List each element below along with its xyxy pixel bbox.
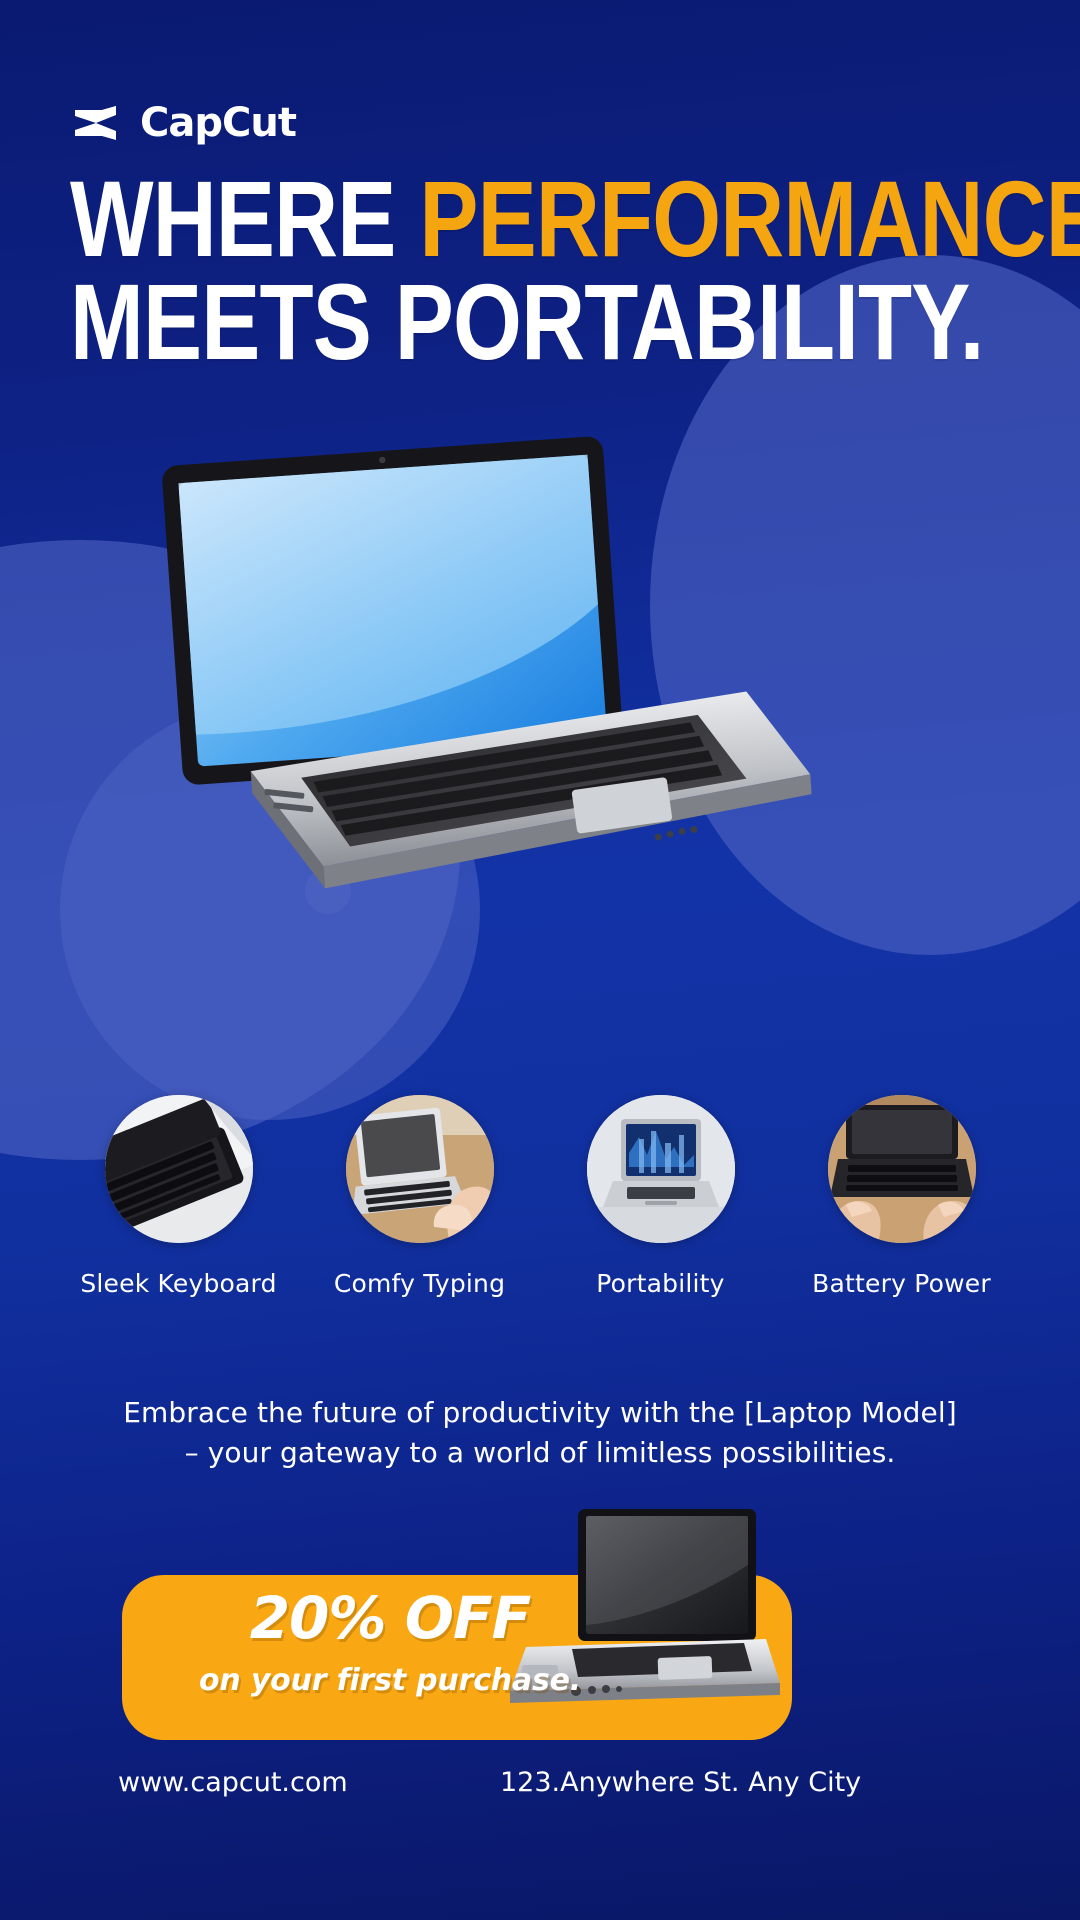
laptop-keyboard-closeup-icon bbox=[105, 1095, 253, 1243]
body-paragraph: Embrace the future of productivity with … bbox=[118, 1393, 962, 1473]
feature-label: Portability bbox=[596, 1269, 724, 1298]
promo-text: 20% OFF on your first purchase. bbox=[150, 1588, 630, 1698]
feature-item[interactable]: Battery Power bbox=[814, 1095, 989, 1298]
promo-headline: 20% OFF bbox=[150, 1588, 630, 1649]
brand-logo[interactable]: CapCut bbox=[72, 100, 296, 146]
feature-label: Comfy Typing bbox=[334, 1269, 505, 1298]
hands-typing-laptop-icon bbox=[346, 1095, 494, 1243]
headline-line-1: WHERE PERFORMANCE bbox=[70, 168, 841, 271]
brand-name: CapCut bbox=[140, 100, 296, 146]
hero-laptop-image bbox=[145, 425, 825, 905]
footer-address: 123.Anywhere St. Any City bbox=[500, 1767, 861, 1798]
page-title: WHERE PERFORMANCE MEETS PORTABILITY. bbox=[70, 168, 1010, 373]
footer-website[interactable]: www.capcut.com bbox=[118, 1767, 348, 1798]
headline-line-2: MEETS PORTABILITY. bbox=[70, 271, 841, 374]
feature-list: Sleek Keyboard bbox=[0, 1095, 1080, 1298]
laptop-on-desk-icon bbox=[587, 1095, 735, 1243]
laptop-hands-wood-desk-icon bbox=[828, 1095, 976, 1243]
promo-banner[interactable]: 20% OFF on your first purchase. bbox=[0, 1540, 1080, 1780]
poster-canvas: CapCut WHERE PERFORMANCE MEETS PORTABILI… bbox=[0, 0, 1080, 1920]
feature-item[interactable]: Comfy Typing bbox=[332, 1095, 507, 1298]
feature-item[interactable]: Portability bbox=[573, 1095, 748, 1298]
feature-item[interactable]: Sleek Keyboard bbox=[91, 1095, 266, 1298]
capcut-logo-icon bbox=[72, 103, 124, 143]
feature-label: Sleek Keyboard bbox=[80, 1269, 276, 1298]
promo-subline: on your first purchase. bbox=[150, 1663, 630, 1698]
feature-label: Battery Power bbox=[812, 1269, 991, 1298]
